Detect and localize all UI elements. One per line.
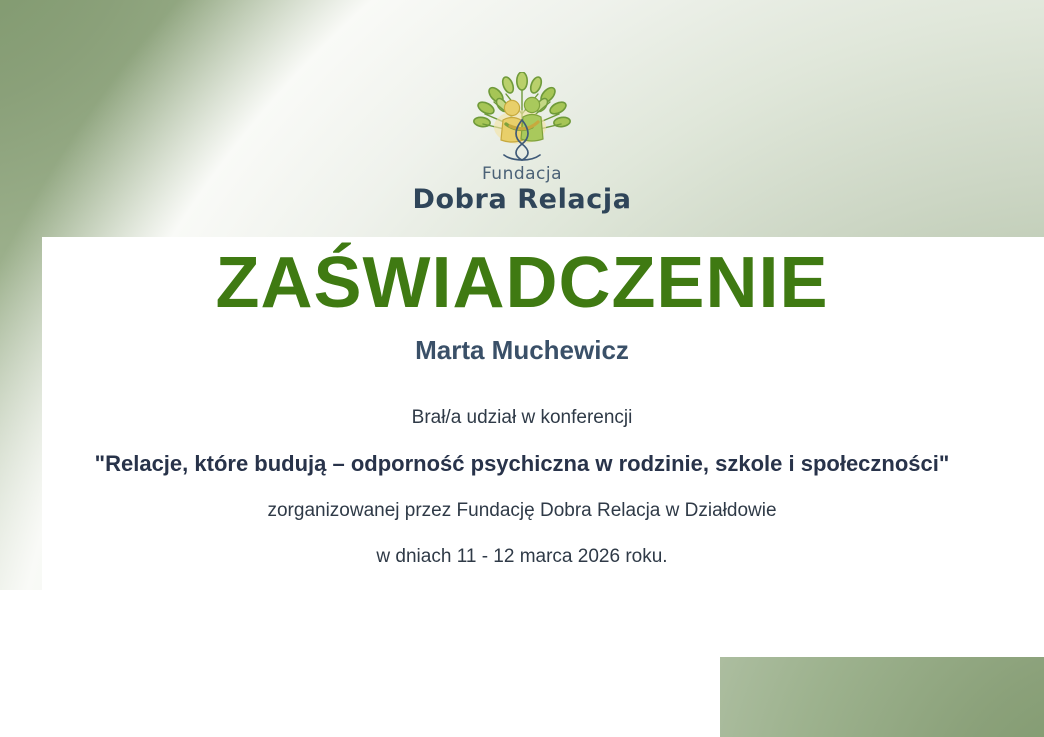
logo-word-main: Dobra Relacja [412,186,631,213]
foundation-logo: Fundacja Dobra Relacja [0,72,1044,213]
tree-with-two-embracing-figures-logo-icon [462,72,582,164]
organizer-line: zorganizowanej przez Fundację Dobra Rela… [0,500,1044,522]
certificate-content: Fundacja Dobra Relacja ZAŚWIADCZENIE Mar… [0,0,1044,737]
conference-title-line: "Relacje, które budują – odporność psych… [0,451,1044,477]
certificate-headline: ZAŚWIADCZENIE [0,247,1044,320]
logo-wordmark: Fundacja Dobra Relacja [412,166,631,213]
logo-word-top: Fundacja [412,166,631,183]
participant-name: Marta Muchewicz [0,335,1044,366]
participation-intro-line: Brał/a udział w konferencji [0,407,1044,429]
dates-line: w dniach 11 - 12 marca 2026 roku. [0,546,1044,568]
certificate-page: Fundacja Dobra Relacja ZAŚWIADCZENIE Mar… [0,0,1044,737]
